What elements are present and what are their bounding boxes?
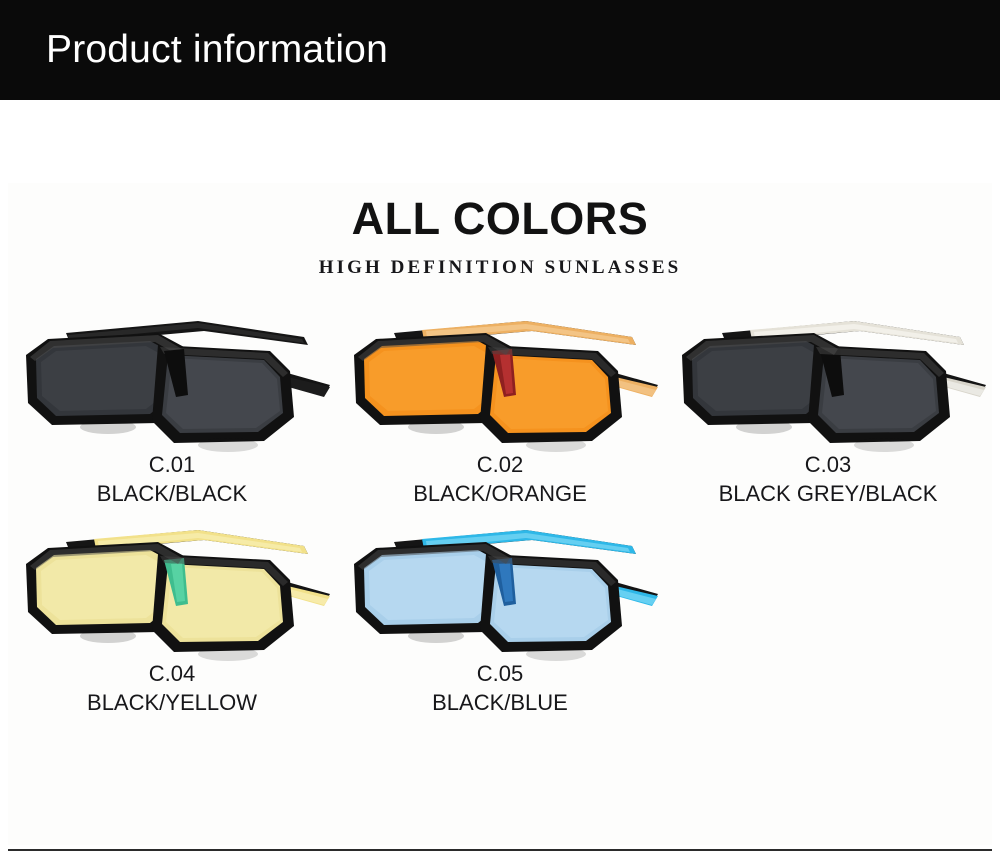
- sunglasses-image-c01: [8, 299, 336, 454]
- variant-code: C.05: [432, 659, 568, 688]
- sunglasses-icon: [664, 299, 992, 454]
- product-information-page: Product information ALL COLORS HIGH DEFI…: [0, 0, 1000, 853]
- variant-caption-c02: C.02 BLACK/ORANGE: [413, 450, 587, 508]
- variant-row-2: C.04 BLACK/YELLOW: [8, 508, 992, 717]
- sunglasses-icon: [336, 299, 664, 454]
- banner: ALL COLORS HIGH DEFINITION SUNLASSES: [8, 196, 992, 277]
- content-top-fill: [8, 103, 992, 183]
- page-header: Product information: [0, 0, 1000, 100]
- content-card: ALL COLORS HIGH DEFINITION SUNLASSES: [8, 103, 992, 845]
- variant-code: C.02: [413, 450, 587, 479]
- variant-name: BLACK/YELLOW: [87, 688, 257, 717]
- sunglasses-icon: [8, 299, 336, 454]
- variant-caption-c01: C.01 BLACK/BLACK: [97, 450, 247, 508]
- banner-sub-title: HIGH DEFINITION SUNLASSES: [8, 258, 992, 277]
- sunglasses-image-c02: [336, 299, 664, 454]
- sunglasses-image-c04: [8, 508, 336, 663]
- variant-name: BLACK GREY/BLACK: [719, 479, 938, 508]
- variant-code: C.01: [97, 450, 247, 479]
- sunglasses-icon: [8, 508, 336, 663]
- banner-main-title: ALL COLORS: [8, 196, 992, 241]
- sunglasses-image-c03: [664, 299, 992, 454]
- variant-caption-c04: C.04 BLACK/YELLOW: [87, 659, 257, 717]
- variant-name: BLACK/ORANGE: [413, 479, 587, 508]
- variant-card-empty: [664, 508, 992, 717]
- sunglasses-image-c05: [336, 508, 664, 663]
- page-title: Product information: [46, 28, 388, 72]
- variant-name: BLACK/BLUE: [432, 688, 568, 717]
- variant-code: C.03: [719, 450, 938, 479]
- variant-row-1: C.01 BLACK/BLACK: [8, 299, 992, 508]
- variant-name: BLACK/BLACK: [97, 479, 247, 508]
- variant-caption-c05: C.05 BLACK/BLUE: [432, 659, 568, 717]
- sunglasses-icon: [336, 508, 664, 663]
- variant-card-c04[interactable]: C.04 BLACK/YELLOW: [8, 508, 336, 717]
- bottom-divider: [8, 849, 992, 851]
- variant-code: C.04: [87, 659, 257, 688]
- variant-card-c02[interactable]: C.02 BLACK/ORANGE: [336, 299, 664, 508]
- variant-caption-c03: C.03 BLACK GREY/BLACK: [719, 450, 938, 508]
- color-variant-grid: C.01 BLACK/BLACK: [8, 299, 992, 717]
- variant-card-c03[interactable]: C.03 BLACK GREY/BLACK: [664, 299, 992, 508]
- variant-card-c05[interactable]: C.05 BLACK/BLUE: [336, 508, 664, 717]
- variant-card-c01[interactable]: C.01 BLACK/BLACK: [8, 299, 336, 508]
